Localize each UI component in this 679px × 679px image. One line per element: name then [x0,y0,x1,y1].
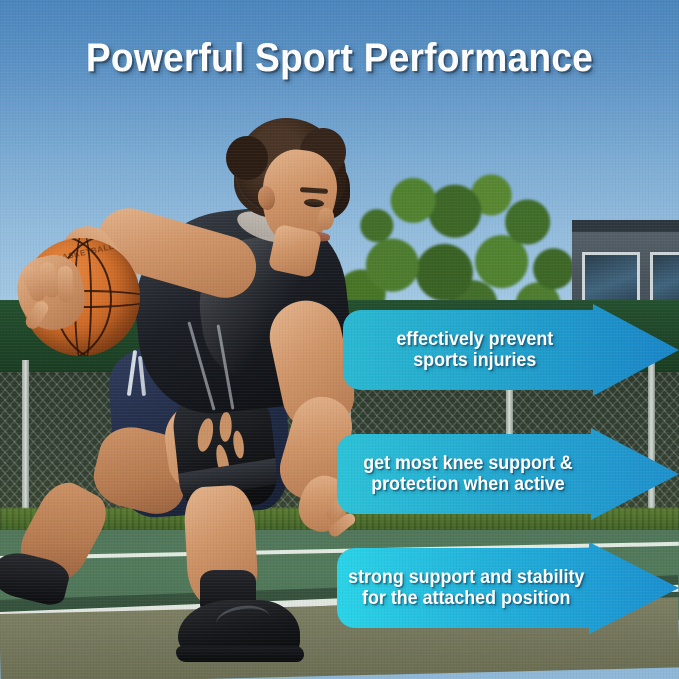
brace-opening [219,412,232,442]
building-roof [572,220,679,232]
callout-text-3: strong support and stability for the att… [349,567,668,609]
callout-text-1: effectively prevent sports injuries [396,329,626,371]
callout-arrow-1: effectively prevent sports injuries [343,304,679,396]
callout-text-2: get most knee support & protection when … [363,453,653,495]
page-title: Powerful Sport Performance [24,36,655,81]
callout-arrow-3: strong support and stability for the att… [337,542,679,634]
product-marketing-poster: B [0,0,679,679]
athlete-neck [268,224,323,279]
athlete-nose [317,207,335,231]
finger [57,266,73,303]
brace-opening [232,430,246,459]
callout-arrow-2: get most knee support & protection when … [337,428,679,520]
brace-opening [195,417,216,453]
shoe-sole [176,646,304,662]
